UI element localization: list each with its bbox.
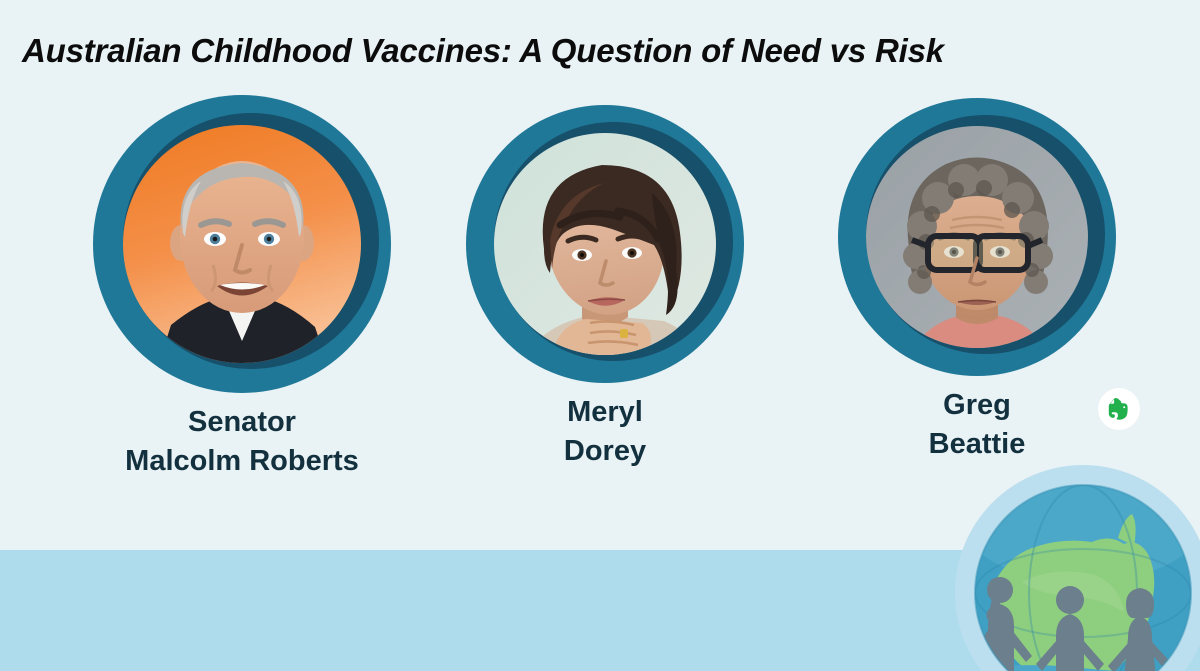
speaker-1-name: Senator Malcolm Roberts	[93, 403, 391, 480]
portrait-meryl-dorey-icon	[494, 133, 716, 355]
speaker-3-name: Greg Beattie	[838, 386, 1116, 463]
speaker-2-name: Meryl Dorey	[466, 393, 744, 470]
speaker-3-avatar-ring	[838, 98, 1116, 376]
evernote-badge[interactable]	[1098, 388, 1140, 430]
speaker-card-2: Meryl Dorey	[466, 105, 744, 383]
globe-with-children-icon	[952, 462, 1200, 671]
speaker-2-photo	[494, 133, 716, 355]
speaker-1-photo	[123, 125, 361, 363]
speaker-1-avatar-ring	[93, 95, 391, 393]
speaker-card-1: Senator Malcolm Roberts	[93, 95, 391, 393]
speaker-slide: Senator Malcolm Roberts	[0, 0, 1200, 671]
portrait-greg-beattie-icon	[866, 126, 1088, 348]
speaker-2-avatar-ring	[466, 105, 744, 383]
portrait-malcolm-roberts-icon	[123, 125, 361, 363]
banner-title: Australian Childhood Vaccines: A Questio…	[22, 32, 944, 70]
evernote-elephant-icon	[1108, 397, 1130, 421]
speaker-3-photo	[866, 126, 1088, 348]
speaker-card-3: Greg Beattie	[838, 98, 1116, 376]
